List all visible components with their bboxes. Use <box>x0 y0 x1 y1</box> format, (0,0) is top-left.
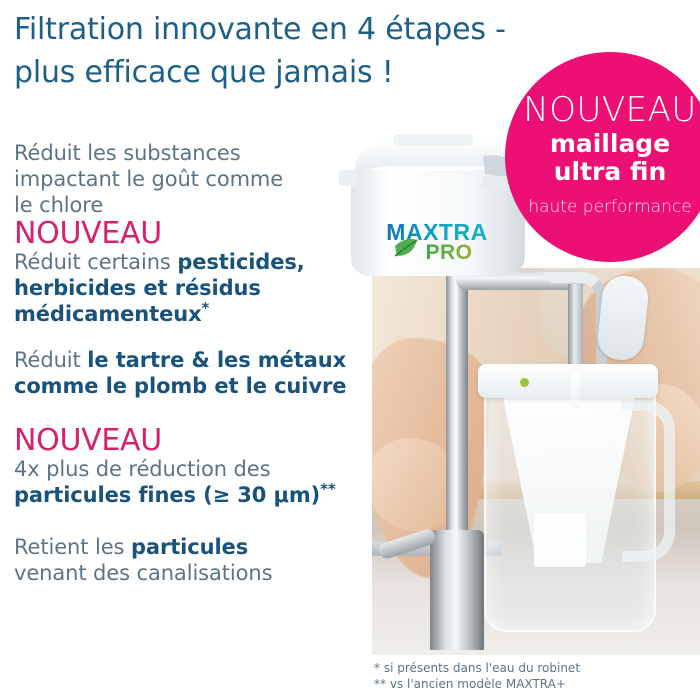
pro-logo-text: PRO <box>425 241 472 264</box>
benefit-limescale-bold-2: comme le plomb et le cuivre <box>14 374 346 398</box>
benefit-limescale-plain: Réduit <box>14 348 87 372</box>
benefit-microparticles-bold: particules fines (≥ 30 μm) <box>14 483 320 507</box>
product-lifestyle-photo <box>372 268 700 655</box>
promo-banner: MAXTRA PRO Filtration innovante en 4 éta… <box>0 0 700 700</box>
benefit-particles-line-1: Retient les particules <box>14 534 364 560</box>
water-stream <box>571 372 580 408</box>
benefit-particles-bold: particules <box>131 535 248 559</box>
headline-line-2: plus efficace que jamais ! <box>14 51 574 94</box>
benefit-pesticides-line-2: herbicides et résidus <box>14 275 364 301</box>
benefit-item-pesticides: NOUVEAU Réduit certains pesticides, herb… <box>14 218 364 327</box>
badge-nouveau-label: NOUVEAU <box>505 92 700 128</box>
footnote-2: ** vs l'ancien modèle MAXTRA+ <box>374 676 694 692</box>
benefit-pesticides-bold-3: médicamenteux <box>14 302 202 326</box>
benefit-microparticles-line-1: 4x plus de réduction des <box>14 456 364 482</box>
benefit-pesticides-bold-2: herbicides et résidus <box>14 276 261 300</box>
jug-cartridge <box>534 513 586 567</box>
faucet-column <box>446 270 468 570</box>
faucet-base <box>430 530 484 650</box>
benefit-pesticides-line-3: médicamenteux* <box>14 301 364 327</box>
benefit-pesticides-plain: Réduit certains <box>14 250 177 274</box>
jug-handle <box>622 400 675 562</box>
headline-line-1: Filtration innovante en 4 étapes - <box>14 12 506 47</box>
footnote-marker-single: * <box>202 299 210 317</box>
nouveau-label-pesticides: NOUVEAU <box>14 218 364 249</box>
headline: Filtration innovante en 4 étapes - plus … <box>14 8 574 94</box>
benefit-particles-line-2: venant des canalisations <box>14 560 364 586</box>
badge-subtitle: haute performance <box>505 197 700 217</box>
badge-main-line-1: maillage <box>505 130 700 158</box>
lid-indicator-icon <box>520 378 529 387</box>
benefit-item-limescale: Réduit le tartre & les métaux comme le p… <box>14 347 364 399</box>
benefit-limescale-line-2: comme le plomb et le cuivre <box>14 373 364 399</box>
benefit-particles-plain: Retient les <box>14 535 131 559</box>
benefit-item-particles: Retient les particules venant des canali… <box>14 534 364 586</box>
nouveau-label-microparticles: NOUVEAU <box>14 425 364 456</box>
benefit-taste-line-1: Réduit les substances <box>14 140 364 166</box>
footnote-1: * si présents dans l'eau du robinet <box>374 660 694 676</box>
benefit-taste-line-2: impactant le goût comme <box>14 166 364 192</box>
benefit-pesticides-bold-1: pesticides, <box>177 250 304 274</box>
benefits-list: Réduit les substances impactant le goût … <box>14 140 364 586</box>
benefit-taste-line-3: le chlore <box>14 192 364 218</box>
benefit-limescale-bold-1: le tartre & les métaux <box>87 348 346 372</box>
benefit-item-taste: Réduit les substances impactant le goût … <box>14 140 364 218</box>
badge-main-text: maillage ultra fin <box>505 130 700 186</box>
footnotes: * si présents dans l'eau du robinet ** v… <box>374 660 694 692</box>
benefit-microparticles-line-2: particules fines (≥ 30 μm)** <box>14 482 364 508</box>
jug-lid <box>478 364 658 398</box>
benefit-limescale-line-1: Réduit le tartre & les métaux <box>14 347 364 373</box>
benefit-item-microparticles: NOUVEAU 4x plus de réduction des particu… <box>14 425 364 508</box>
footnote-marker-double: ** <box>320 480 336 498</box>
badge-main-line-2: ultra fin <box>505 158 700 186</box>
benefit-pesticides-line-1: Réduit certains pesticides, <box>14 249 364 275</box>
